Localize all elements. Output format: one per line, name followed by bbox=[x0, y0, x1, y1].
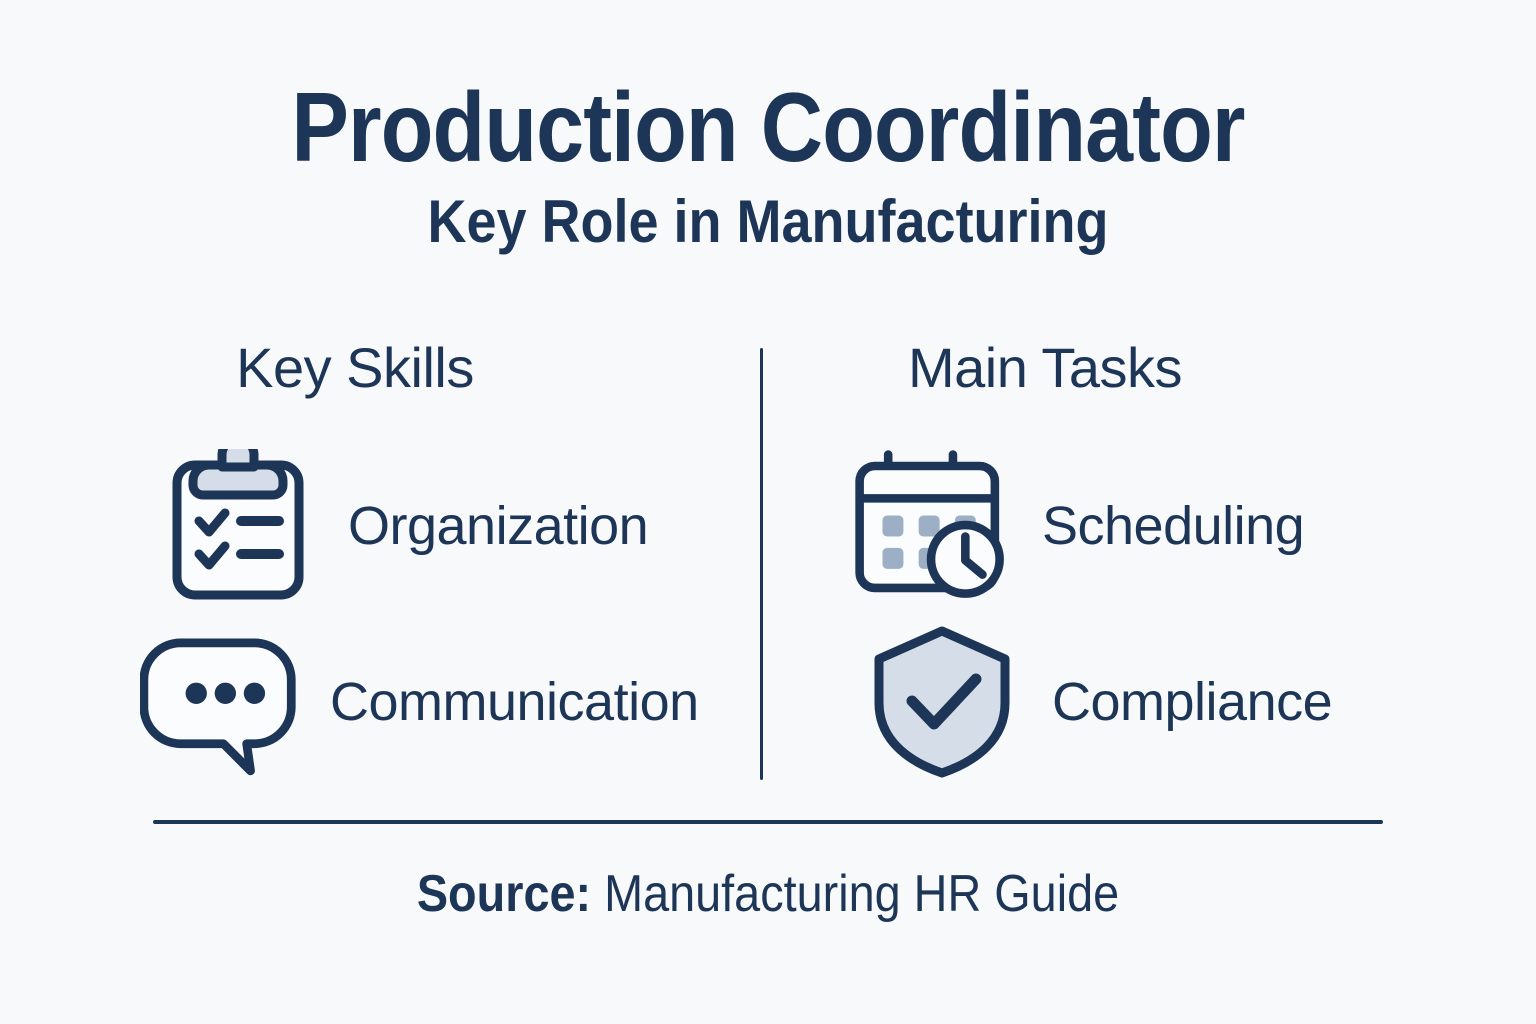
columns-container: Key Skills Organization bbox=[0, 340, 1536, 790]
header: Production Coordinator Key Role in Manuf… bbox=[0, 78, 1536, 253]
list-item-label: Compliance bbox=[1052, 675, 1332, 729]
column-key-skills: Key Skills Organization bbox=[100, 340, 710, 790]
shield-check-icon bbox=[862, 622, 1022, 782]
column-heading-main-tasks: Main Tasks bbox=[690, 340, 1400, 396]
column-main-tasks: Main Tasks bbox=[790, 340, 1400, 790]
calendar-clock-icon bbox=[852, 446, 1012, 606]
page-subtitle: Key Role in Manufacturing bbox=[77, 190, 1459, 253]
source-label: Source: bbox=[417, 865, 591, 923]
source-attribution: Source: Manufacturing HR Guide bbox=[77, 866, 1459, 923]
source-value: Manufacturing HR Guide bbox=[604, 865, 1119, 923]
list-item-label: Organization bbox=[348, 499, 648, 553]
list-item-compliance: Compliance bbox=[862, 622, 1332, 782]
infographic-canvas: Production Coordinator Key Role in Manuf… bbox=[0, 0, 1536, 1024]
list-item-scheduling: Scheduling bbox=[852, 446, 1304, 606]
list-item-organization: Organization bbox=[158, 446, 648, 606]
clipboard-checklist-icon bbox=[158, 446, 318, 606]
page-title: Production Coordinator bbox=[92, 78, 1444, 178]
column-divider bbox=[760, 348, 763, 780]
list-item-label: Communication bbox=[330, 675, 699, 729]
footer-divider bbox=[153, 820, 1383, 824]
column-heading-key-skills: Key Skills bbox=[0, 340, 710, 396]
list-item-communication: Communication bbox=[140, 622, 699, 782]
speech-bubble-dots-icon bbox=[140, 622, 300, 782]
list-item-label: Scheduling bbox=[1042, 499, 1304, 553]
